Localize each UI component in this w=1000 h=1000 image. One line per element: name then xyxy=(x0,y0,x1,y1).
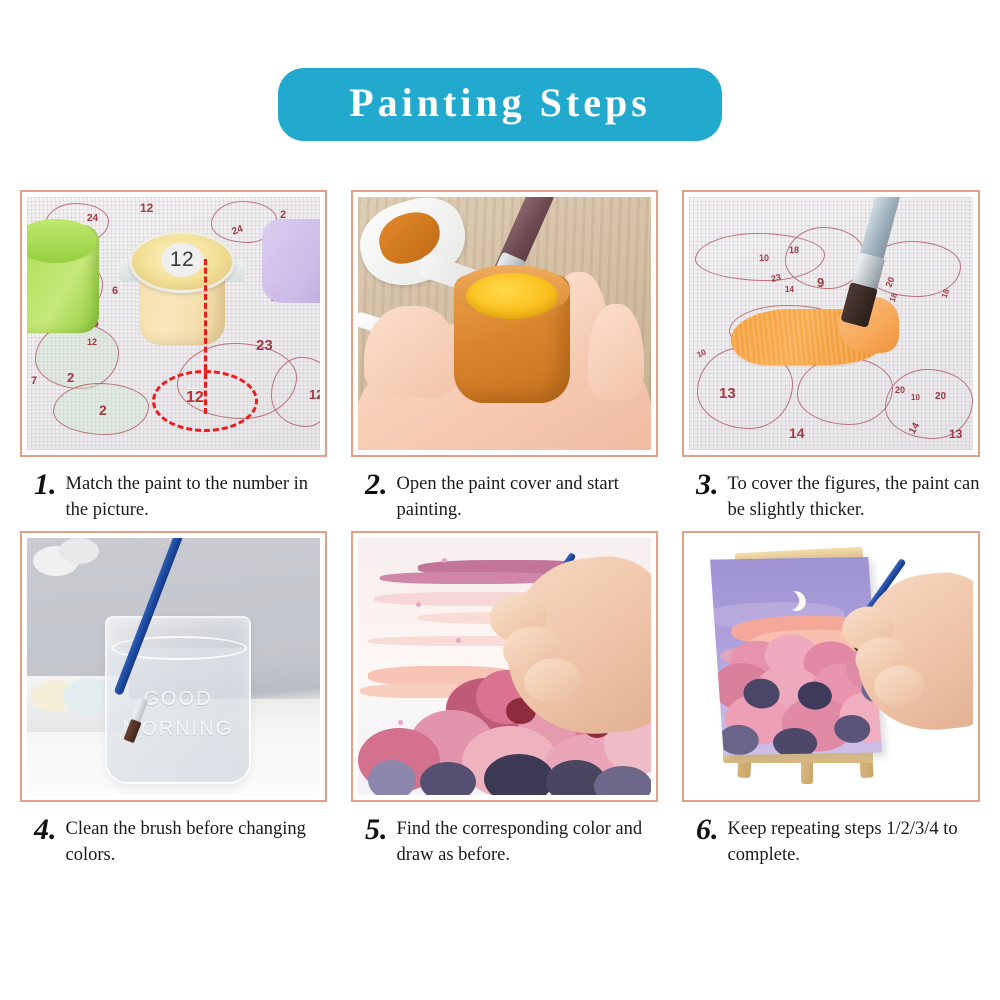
step-1-photo-frame: 12 24 2 24 7 6 5 12 23 24 23 2 7 2 12 xyxy=(20,190,327,457)
step-1-caption: 1. Match the paint to the number in the … xyxy=(20,457,327,523)
step-card-4: GOOD MORNING 4. Clean the brush before c… xyxy=(20,531,327,868)
step-6-photo-frame xyxy=(682,531,980,802)
step-card-3: 10 18 23 14 9 20 18 18 10 20 13 20 10 20… xyxy=(682,190,980,523)
step-5-number: 5. xyxy=(365,816,388,843)
grid-gap xyxy=(327,190,351,523)
water-glass: GOOD MORNING xyxy=(105,616,251,784)
highlighted-canvas-number: 12 xyxy=(186,389,204,407)
step-1-text: Match the paint to the number in the pic… xyxy=(66,471,324,523)
paint-pot-open xyxy=(454,275,570,403)
step-card-2: 2. Open the paint cover and start painti… xyxy=(351,190,658,523)
page-title: Painting Steps xyxy=(336,82,664,124)
step-card-6: 6. Keep repeating steps 1/2/3/4 to compl… xyxy=(682,531,980,868)
step-5-photo-frame xyxy=(351,531,658,802)
step-4-caption: 4. Clean the brush before changing color… xyxy=(20,802,327,868)
grid-gap xyxy=(327,531,351,868)
step-4-photo-frame: GOOD MORNING xyxy=(20,531,327,802)
paint-pot-number-label: 12 xyxy=(161,243,203,277)
paint-pot-matching-number-photo: 12 24 2 24 7 6 5 12 23 24 23 2 7 2 12 xyxy=(27,197,320,450)
step-4-number: 4. xyxy=(34,816,57,843)
step-2-number: 2. xyxy=(365,471,388,498)
paint-pot-12: 12 xyxy=(123,223,241,348)
hand-painting-blossom-canvas-photo xyxy=(358,538,651,795)
step-5-text: Find the corresponding color and draw as… xyxy=(397,816,655,868)
step-2-caption: 2. Open the paint cover and start painti… xyxy=(351,457,658,523)
red-dashed-ellipse xyxy=(152,370,258,432)
step-5-caption: 5. Find the corresponding color and draw… xyxy=(351,802,658,868)
grid-gap xyxy=(658,531,682,868)
glass-text-line-1: GOOD xyxy=(107,684,249,714)
opening-paint-pot-photo xyxy=(358,197,651,450)
step-3-caption: 3. To cover the figures, the paint can b… xyxy=(682,457,980,523)
yellow-paint xyxy=(466,273,558,319)
step-6-caption: 6. Keep repeating steps 1/2/3/4 to compl… xyxy=(682,802,980,868)
step-6-number: 6. xyxy=(696,816,719,843)
step-4-text: Clean the brush before changing colors. xyxy=(66,816,324,868)
brush-in-water-glass-photo: GOOD MORNING xyxy=(27,538,320,795)
brush-applying-orange-paint-photo: 10 18 23 14 9 20 18 18 10 20 13 20 10 20… xyxy=(689,197,973,450)
green-paint-pot xyxy=(27,225,99,333)
header: Painting Steps xyxy=(0,0,1000,141)
step-6-text: Keep repeating steps 1/2/3/4 to complete… xyxy=(728,816,981,868)
step-1-number: 1. xyxy=(34,471,57,498)
finished-painting-on-easel-photo xyxy=(689,538,973,795)
step-3-number: 3. xyxy=(696,471,719,498)
purple-paint-pot xyxy=(262,219,320,303)
step-2-photo-frame xyxy=(351,190,658,457)
steps-grid: 12 24 2 24 7 6 5 12 23 24 23 2 7 2 12 xyxy=(20,190,980,868)
step-3-text: To cover the figures, the paint can be s… xyxy=(728,471,981,523)
step-2-text: Open the paint cover and start painting. xyxy=(397,471,655,523)
grid-gap xyxy=(658,190,682,523)
step-3-photo-frame: 10 18 23 14 9 20 18 18 10 20 13 20 10 20… xyxy=(682,190,980,457)
title-pill: Painting Steps xyxy=(278,68,722,141)
step-card-1: 12 24 2 24 7 6 5 12 23 24 23 2 7 2 12 xyxy=(20,190,327,523)
step-card-5: 5. Find the corresponding color and draw… xyxy=(351,531,658,868)
